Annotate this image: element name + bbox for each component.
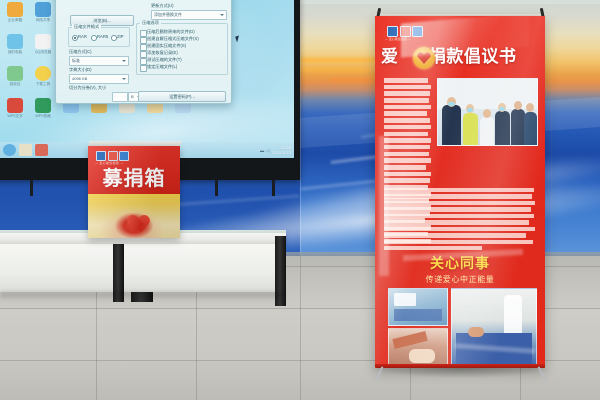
set-password-button[interactable]: 设置密码(P)...	[138, 91, 226, 102]
dictionary-value: 4096 KB	[72, 76, 87, 81]
option-label-delete-after: 压缩后删除原来的文件(D)	[147, 29, 195, 35]
method-label: 压缩方式(C)	[69, 49, 92, 55]
desktop-icon[interactable]: 我的电脑	[2, 34, 28, 64]
banner-floor-shadow	[372, 368, 550, 378]
desktop-icon[interactable]: QQ浏览器	[30, 34, 56, 64]
system-tray[interactable]: ▬ ◁ 16:39 2015/5/15	[260, 143, 291, 157]
option-checkbox-solid[interactable]	[140, 44, 147, 51]
wps-spreadsheet-icon	[35, 98, 51, 113]
projector-screen[interactable]: 企业邮箱 网络共享 我的电脑 QQ浏览器 回收站 下载工具	[0, 0, 294, 158]
option-checkbox-lock[interactable]	[140, 65, 147, 72]
mural-sun-streak	[290, 68, 370, 72]
mail-icon	[7, 2, 23, 17]
clock-date: 2015/5/15	[271, 150, 291, 155]
format-radio-rar-label: RAR	[78, 34, 87, 39]
download-icon	[35, 66, 51, 81]
taskbar-clock[interactable]: 16:39 2015/5/15	[271, 145, 291, 156]
dictionary-label: 字典大小(D)	[69, 67, 92, 73]
desktop-icon[interactable]: 网络共享	[30, 2, 56, 32]
wps-writer-icon	[7, 98, 23, 113]
banner-crease	[379, 136, 389, 276]
update-mode-label: 更新方式(U)	[151, 3, 174, 9]
option-label-sfx: 创建自解压格式压缩文件(X)	[147, 36, 199, 42]
dictionary-select[interactable]: 4096 KB	[69, 74, 129, 84]
screen-hook	[272, 180, 275, 196]
desktop-icon[interactable]: 回收站	[2, 66, 28, 96]
update-mode-value: 添加并替换文件	[154, 12, 182, 18]
split-unit-value: B	[131, 94, 134, 99]
browser-icon	[35, 34, 51, 49]
donation-box[interactable]: — 爱心助您健康 — 募捐箱	[88, 146, 180, 238]
recycle-bin-icon	[7, 66, 23, 81]
option-checkbox-delete-after[interactable]	[140, 30, 147, 37]
floor-grout-line	[300, 256, 301, 400]
option-checkbox-sfx[interactable]	[140, 37, 147, 44]
option-label-solid: 创建固实压缩文件(S)	[147, 43, 186, 49]
network-share-icon	[35, 2, 51, 17]
desktop-icon[interactable]: 下载工具	[30, 66, 56, 96]
screen-hook	[30, 180, 33, 196]
network-icon[interactable]: ▬	[260, 148, 264, 153]
mural-panel-seam	[551, 0, 552, 256]
desktop-icon[interactable]: WPS文字	[2, 98, 28, 128]
screen-hook	[215, 180, 218, 196]
format-radio-rar5-label: RAR5	[97, 34, 108, 39]
desktop-icon-label: WPS表格	[27, 114, 59, 125]
update-mode-select[interactable]: 添加并替换文件	[151, 10, 227, 20]
volume-icon[interactable]: ◁	[266, 148, 269, 153]
taskbar-item-explorer[interactable]	[19, 144, 32, 156]
taskbar-item-winrar[interactable]	[35, 144, 48, 156]
my-computer-icon	[7, 34, 23, 49]
banner-gloss	[375, 16, 545, 368]
photo-scene: 企业邮箱 网络共享 我的电脑 QQ浏览器 回收站 下载工具	[0, 0, 600, 400]
desktop-icon[interactable]: 企业邮箱	[2, 2, 28, 32]
option-checkbox-recovery[interactable]	[140, 51, 147, 58]
mural-panel-seam	[300, 0, 301, 256]
donation-box-shading	[88, 146, 180, 238]
rollup-banner[interactable]: — 爱心助您健康 — 爱 捐款倡议书	[375, 16, 545, 368]
winrar-dialog[interactable]: 浏览(B)... 更新方式(U) 添加并替换文件 压缩文件格式 RAR RAR5…	[55, 0, 232, 104]
format-group-title: 压缩文件格式	[72, 24, 101, 30]
option-label-lock: 锁定压缩文件(L)	[147, 64, 177, 70]
format-radio-zip-label: ZIP	[117, 34, 124, 39]
options-group-title: 压缩选项	[140, 20, 161, 26]
desk-shadow	[0, 292, 284, 301]
option-label-test: 测试压缩的文件(T)	[147, 57, 182, 63]
method-value: 标准	[72, 58, 80, 64]
split-label: 切分为分卷(V), 大小	[69, 85, 106, 91]
desktop-icon[interactable]: WPS表格	[30, 98, 56, 128]
desk-front-panel	[0, 244, 282, 292]
split-size-input[interactable]	[112, 92, 128, 102]
option-label-recovery: 添加恢复记录(E)	[147, 50, 178, 56]
method-select[interactable]: 标准	[69, 56, 129, 66]
option-checkbox-test[interactable]	[140, 58, 147, 65]
start-button[interactable]	[3, 144, 16, 156]
